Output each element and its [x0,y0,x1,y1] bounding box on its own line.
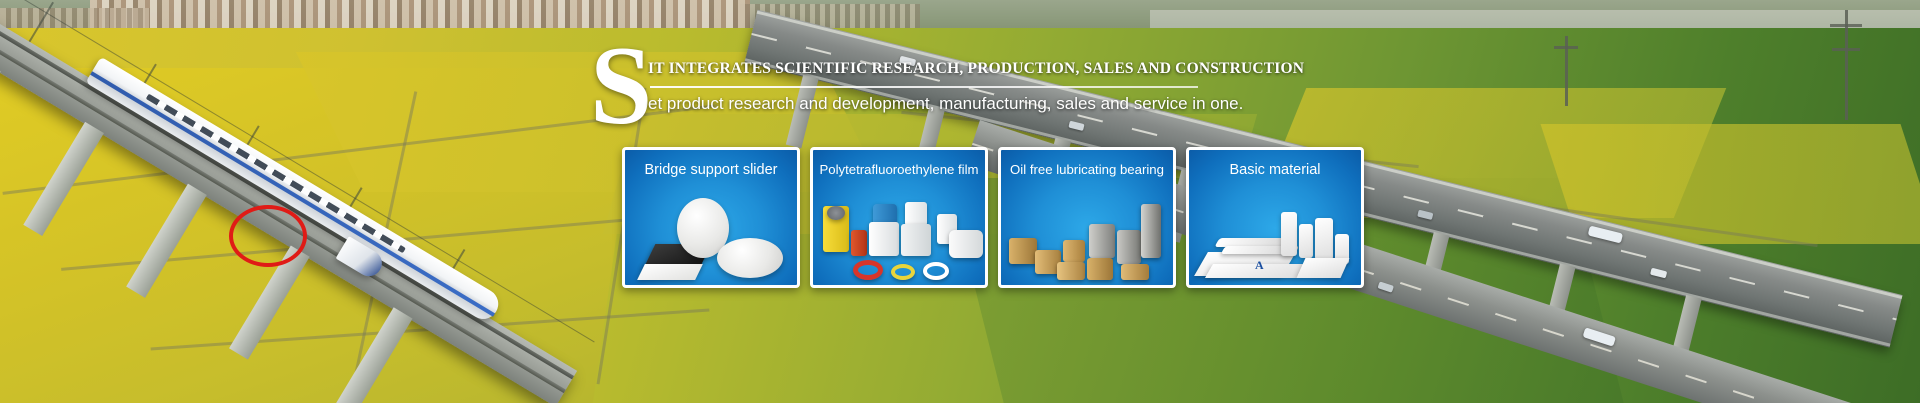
white-cylinder [1315,218,1333,260]
bronze-bushing [1057,262,1085,280]
bronze-bushing [1063,240,1085,262]
power-pylon-arm [1830,24,1862,27]
product-image-white-blocks-and-rods: A [1189,190,1361,285]
product-card-title: Basic material [1189,162,1361,178]
orange-roll [851,230,867,256]
viaduct-pier [0,60,1,174]
red-ring [853,260,883,280]
white-cylinder [1281,212,1297,256]
white-roll [905,202,927,226]
viaduct-pier [126,184,207,298]
promo-banner: S IT INTEGRATES SCIENTIFIC RESEARCH, PRO… [0,0,1920,403]
white-bushing [949,230,983,258]
watermark-letter: A [1255,258,1264,273]
white-block [1297,258,1350,278]
product-image-rolls-and-rings [813,190,985,285]
drop-cap: S [590,30,650,142]
product-card-row: Bridge support slider Polytetrafluoroeth… [622,147,1364,288]
product-card-title: Oil free lubricating bearing [1001,162,1173,177]
white-roll [901,224,931,256]
roll-core [827,206,845,220]
steel-bushing [1117,230,1141,264]
product-card-title: Polytetrafluoroethylene film [813,162,985,177]
banner-headline: IT INTEGRATES SCIENTIFIC RESEARCH, PRODU… [648,60,1208,78]
headline-divider [650,86,1198,88]
product-card-ptfe-film[interactable]: Polytetrafluoroethylene film [810,147,988,288]
product-card-basic-material[interactable]: Basic material A [1186,147,1364,288]
yellow-ring [891,264,915,280]
white-disc [717,238,783,278]
bronze-bushing [1009,238,1037,264]
steel-bushing [1089,224,1115,258]
white-roll [869,222,899,256]
power-pylon-arm [1554,46,1578,49]
product-card-bridge-support-slider[interactable]: Bridge support slider [622,147,800,288]
bronze-bushing [1087,258,1113,280]
white-sheet [637,264,703,280]
bronze-bushing [1121,264,1149,280]
viaduct-pier [332,307,413,403]
viaduct-pier [23,122,104,236]
red-circle-annotation [229,205,307,267]
banner-subheadline: et product research and development, man… [648,94,1218,114]
white-cylinder [1299,224,1313,258]
product-image-bronze-bushings [1001,190,1173,285]
headline-block: S IT INTEGRATES SCIENTIFIC RESEARCH, PRO… [590,38,1210,126]
product-image-discs-and-plate [625,190,797,285]
product-card-title: Bridge support slider [625,162,797,178]
product-card-oil-free-bearing[interactable]: Oil free lubricating bearing [998,147,1176,288]
power-pylon-arm [1832,48,1860,51]
steel-sleeve [1141,204,1161,258]
white-ring [923,262,949,280]
